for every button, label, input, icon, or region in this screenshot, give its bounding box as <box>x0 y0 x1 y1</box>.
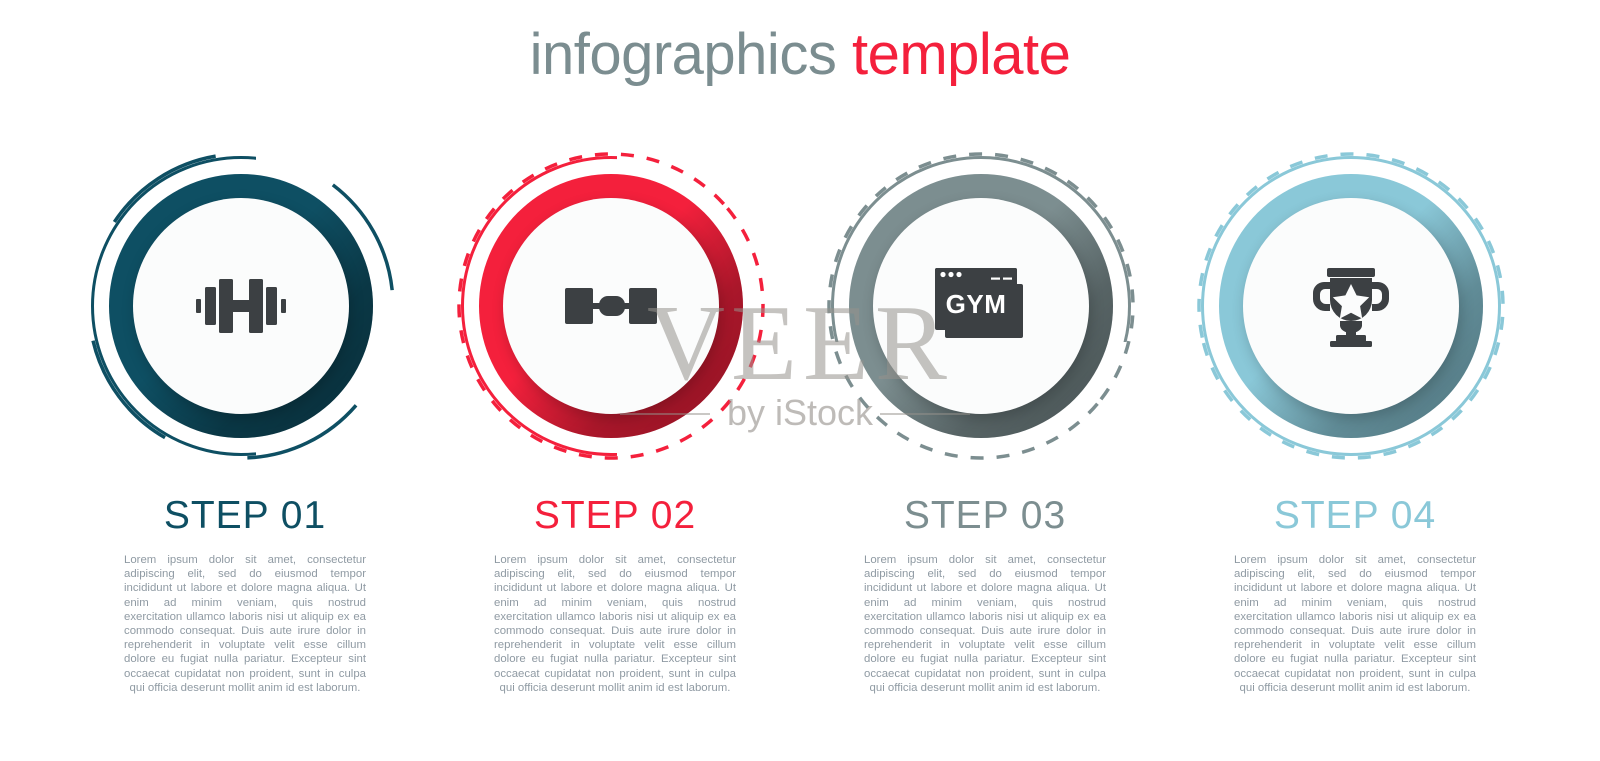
step-label-1: STEP 01 <box>60 496 430 535</box>
icon-disc-2[interactable] <box>503 198 719 414</box>
title-word-infographics: infographics <box>530 22 837 87</box>
gym-browser-icon: GYM <box>931 266 1031 346</box>
step-body-3: Lorem ipsum dolor sit amet, consectetur … <box>864 553 1106 695</box>
step-circle-2[interactable] <box>455 150 775 470</box>
step-column-4[interactable]: STEP 04 Lorem ipsum dolor sit amet, cons… <box>1170 150 1540 690</box>
trophy-star-icon <box>1312 264 1390 348</box>
step-body-1: Lorem ipsum dolor sit amet, consectetur … <box>124 553 366 695</box>
step-column-1[interactable]: STEP 01 Lorem ipsum dolor sit amet, cons… <box>60 150 430 690</box>
steps-row: STEP 01 Lorem ipsum dolor sit amet, cons… <box>0 150 1600 690</box>
step-label-4: STEP 04 <box>1170 496 1540 535</box>
title-word-template: template <box>852 22 1070 87</box>
step-label-2: STEP 02 <box>430 496 800 535</box>
step-circle-1[interactable] <box>85 150 405 470</box>
svg-text:GYM: GYM <box>946 289 1007 319</box>
icon-disc-3[interactable]: GYM <box>873 198 1089 414</box>
step-column-3[interactable]: GYM STEP 03 Lorem ipsum dolor sit amet, … <box>800 150 1170 690</box>
step-circle-3[interactable]: GYM <box>825 150 1145 470</box>
icon-disc-1[interactable] <box>133 198 349 414</box>
dumbbell-grip-icon <box>565 282 657 330</box>
dumbbell-icon <box>196 275 286 337</box>
step-body-2: Lorem ipsum dolor sit amet, consectetur … <box>494 553 736 695</box>
step-body-4: Lorem ipsum dolor sit amet, consectetur … <box>1234 553 1476 695</box>
page-title: infographics template <box>0 26 1600 84</box>
icon-disc-4[interactable] <box>1243 198 1459 414</box>
step-column-2[interactable]: STEP 02 Lorem ipsum dolor sit amet, cons… <box>430 150 800 690</box>
step-circle-4[interactable] <box>1195 150 1515 470</box>
step-label-3: STEP 03 <box>800 496 1170 535</box>
